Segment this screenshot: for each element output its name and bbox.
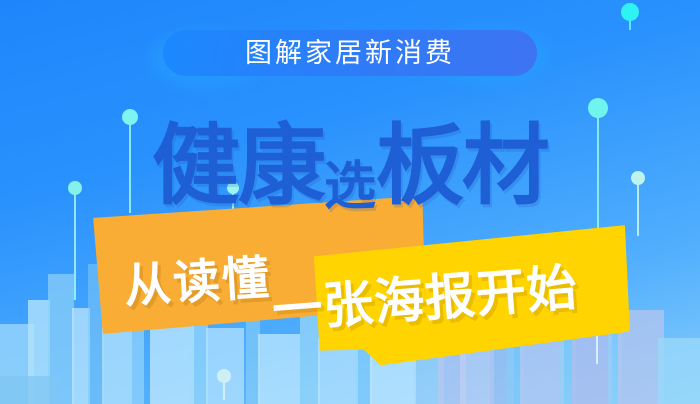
headline: 健康选板材 (0, 122, 700, 213)
pin-head-circle (621, 3, 639, 21)
building-shape (206, 328, 244, 404)
building-shape (150, 322, 194, 404)
building-shape (258, 334, 300, 404)
building-shape (0, 376, 58, 404)
topic-badge-label: 图解家居新消费 (245, 40, 455, 67)
building-shape (72, 308, 90, 404)
topic-badge[interactable]: 图解家居新消费 (163, 30, 537, 76)
poster-canvas: 健康选板材 从读懂 一张海报开始 图解家居新消费 (0, 0, 700, 404)
building-shape (658, 338, 700, 404)
headline-part-1: 健康 (152, 114, 324, 217)
pin-decoration-4 (621, 3, 639, 21)
pin-decoration-5 (588, 98, 608, 118)
pin-decoration-8 (217, 369, 231, 383)
headline-part-2: 选 (324, 157, 376, 217)
pin-head-circle (588, 98, 608, 118)
subtitle-part-1: 从读懂 (123, 255, 273, 311)
pin-head-circle (217, 369, 231, 383)
headline-part-3: 板材 (376, 114, 548, 217)
